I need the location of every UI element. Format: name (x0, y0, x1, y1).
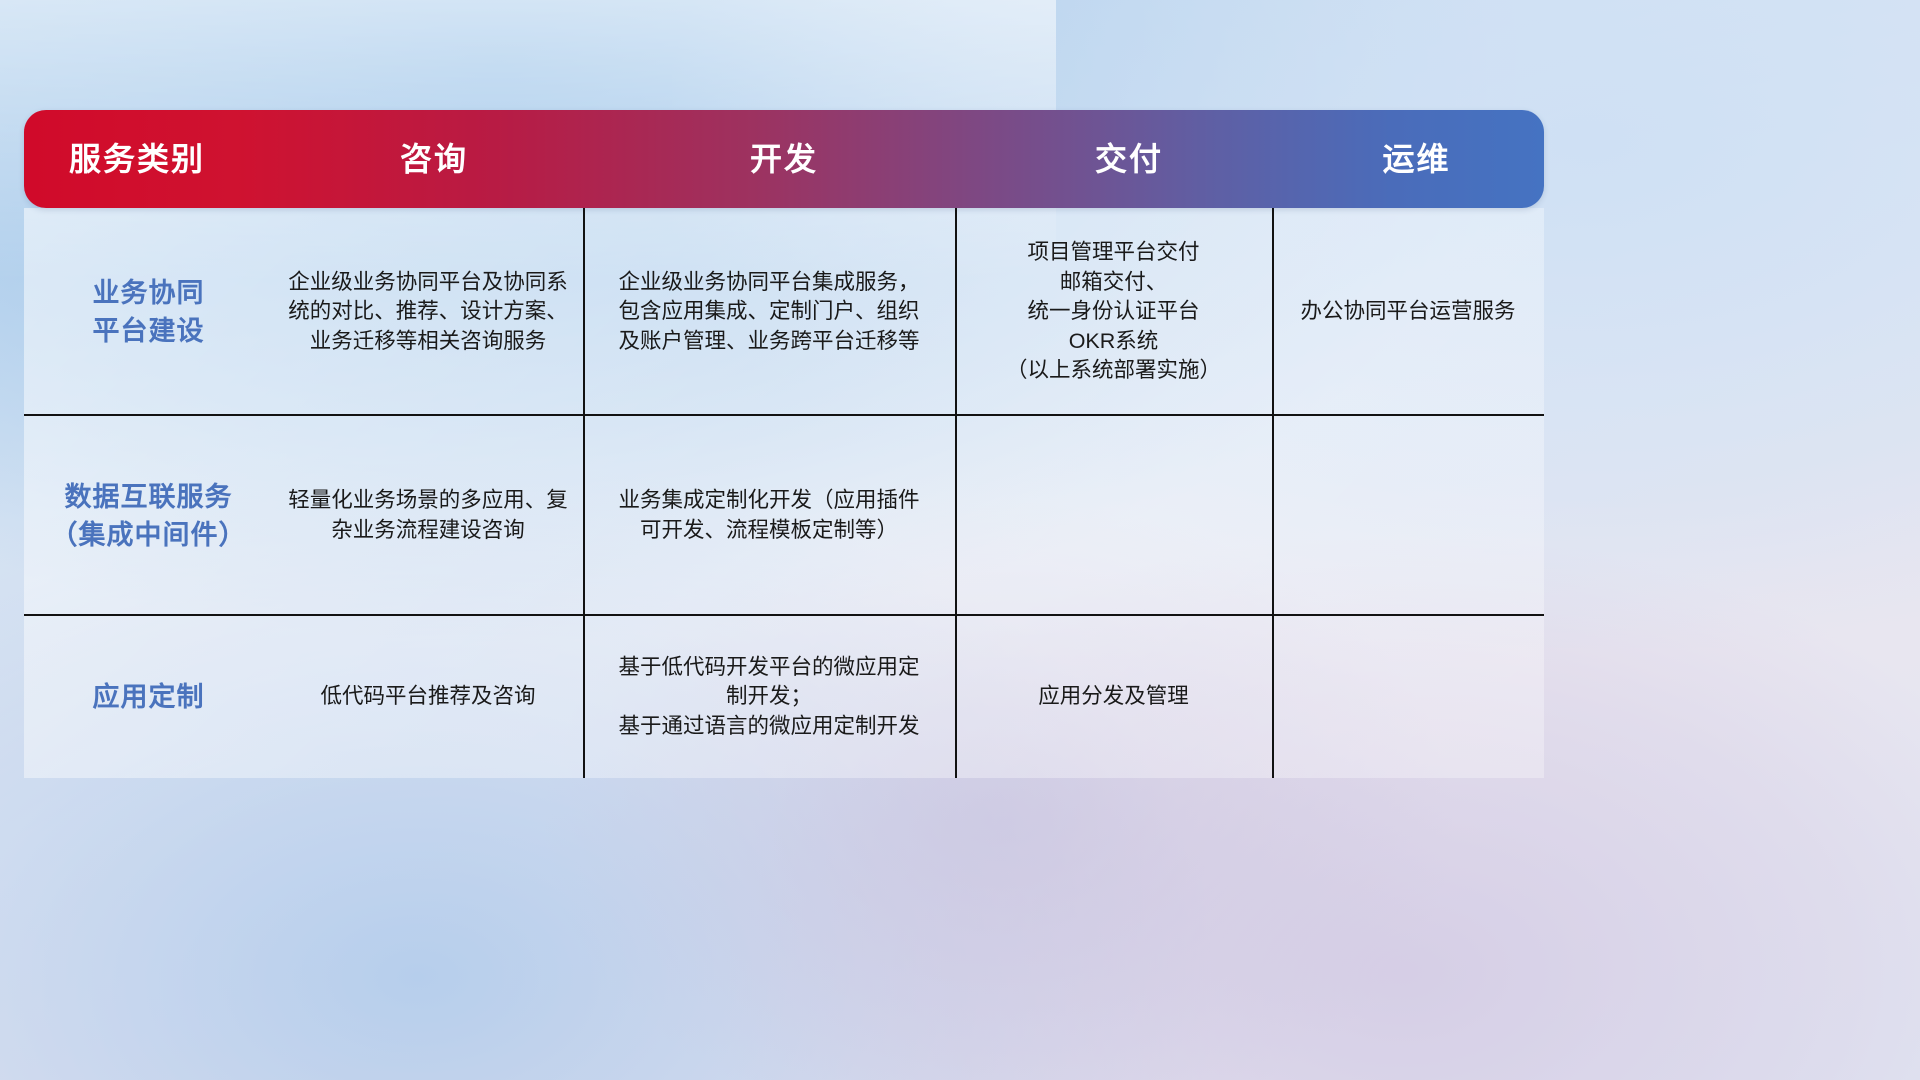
cell-delivery (955, 416, 1272, 616)
cell-development: 业务集成定制化开发（应用插件 可开发、流程模板定制等） (583, 416, 955, 616)
row-category-label: 应用定制 (24, 616, 273, 778)
table-body-grid: 业务协同 平台建设 企业级业务协同平台及协同系 统的对比、推荐、设计方案、 业务… (24, 208, 1544, 778)
cell-development: 企业级业务协同平台集成服务， 包含应用集成、定制门户、组织 及账户管理、业务跨平… (583, 208, 955, 416)
service-matrix-table: 服务类别 咨询 开发 交付 运维 业务协同 平台建设 企业级业务协同平台及协同系… (24, 110, 1544, 778)
cell-operations (1272, 616, 1544, 778)
column-header-delivery: 交付 (969, 110, 1289, 208)
table-row: 数据互联服务 （集成中间件） 轻量化业务场景的多应用、复 杂业务流程建设咨询 业… (24, 416, 1544, 616)
cell-consulting: 低代码平台推荐及咨询 (273, 616, 583, 778)
table-row: 应用定制 低代码平台推荐及咨询 基于低代码开发平台的微应用定 制开发； 基于通过… (24, 616, 1544, 778)
cell-delivery: 项目管理平台交付 邮箱交付、 统一身份认证平台 OKR系统 （以上系统部署实施） (955, 208, 1272, 416)
row-category-label: 数据互联服务 （集成中间件） (24, 416, 273, 616)
cell-consulting: 轻量化业务场景的多应用、复 杂业务流程建设咨询 (273, 416, 583, 616)
cell-operations (1272, 416, 1544, 616)
row-category-label: 业务协同 平台建设 (24, 208, 273, 416)
column-header-category: 服务类别 (69, 110, 269, 208)
column-header-development: 开发 (599, 110, 969, 208)
table-header-row: 服务类别 咨询 开发 交付 运维 (24, 110, 1544, 208)
cell-development: 基于低代码开发平台的微应用定 制开发； 基于通过语言的微应用定制开发 (583, 616, 955, 778)
table-row: 业务协同 平台建设 企业级业务协同平台及协同系 统的对比、推荐、设计方案、 业务… (24, 208, 1544, 416)
cell-operations: 办公协同平台运营服务 (1272, 208, 1544, 416)
column-header-consulting: 咨询 (269, 110, 599, 208)
cell-delivery: 应用分发及管理 (955, 616, 1272, 778)
column-header-operations: 运维 (1289, 110, 1544, 208)
cell-consulting: 企业级业务协同平台及协同系 统的对比、推荐、设计方案、 业务迁移等相关咨询服务 (273, 208, 583, 416)
